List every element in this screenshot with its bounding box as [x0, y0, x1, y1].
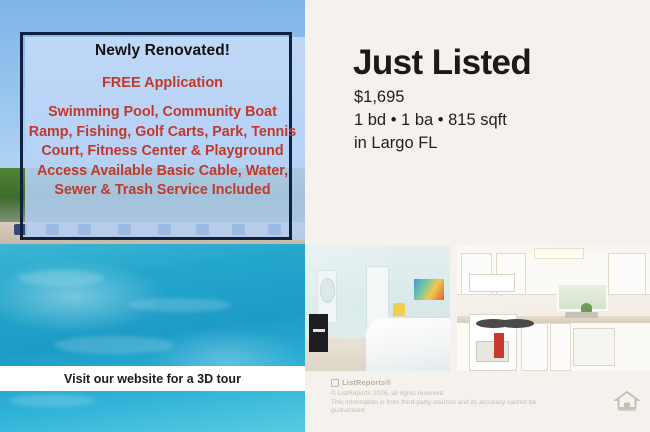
listing-flyer: Newly Renovated! FREE Application Swimmi… — [0, 0, 650, 432]
kitchen-dishwasher — [573, 328, 615, 366]
kitchen-cabinet — [550, 323, 571, 371]
bedroom-chair — [309, 314, 328, 352]
listing-price: $1,695 — [354, 88, 404, 107]
listreports-logo-icon — [331, 379, 339, 387]
listreports-brand-name: ListReports® — [342, 378, 391, 387]
listing-location: in Largo FL — [354, 134, 437, 153]
listreports-branding: ListReports® — [331, 378, 631, 387]
footer-disclaimer-cont: guaranteed — [331, 407, 631, 416]
footer: ListReports® © ListReports 2026, all rig… — [331, 378, 631, 416]
kitchen-microwave — [469, 274, 515, 292]
listing-headline: Just Listed — [353, 43, 531, 83]
promo-title: Newly Renovated! — [26, 42, 299, 60]
hero-photo-pool: Newly Renovated! FREE Application Swimmi… — [0, 0, 305, 432]
tour-caption-band: Visit our website for a 3D tour — [0, 366, 305, 391]
kitchen-cabinet — [521, 323, 548, 371]
promo-amenities: Swimming Pool, Community Boat Ramp, Fish… — [26, 103, 299, 201]
equal-housing-opportunity-icon — [613, 388, 641, 414]
promo-offer: FREE Application — [26, 75, 299, 91]
kitchen-cabinet — [608, 253, 647, 296]
bedroom-wall-art — [414, 279, 444, 300]
promo-text-block: Newly Renovated! FREE Application Swimmi… — [20, 32, 305, 244]
tour-caption-text: Visit our website for a 3D tour — [64, 372, 241, 386]
kitchen-towel — [494, 333, 505, 358]
bedroom-bed — [366, 318, 450, 371]
thumbnail-bedroom — [305, 245, 450, 371]
footer-disclaimer: This information is from third-party sou… — [331, 399, 631, 408]
thumbnail-kitchen — [457, 245, 650, 371]
kitchen-sink — [565, 312, 598, 318]
listing-specs: 1 bd • 1 ba • 815 sqft — [354, 111, 507, 130]
footer-copyright: © ListReports 2026, all rights reserved — [331, 390, 631, 399]
kitchen-ceiling-light — [534, 248, 584, 259]
pool-water — [0, 244, 305, 432]
